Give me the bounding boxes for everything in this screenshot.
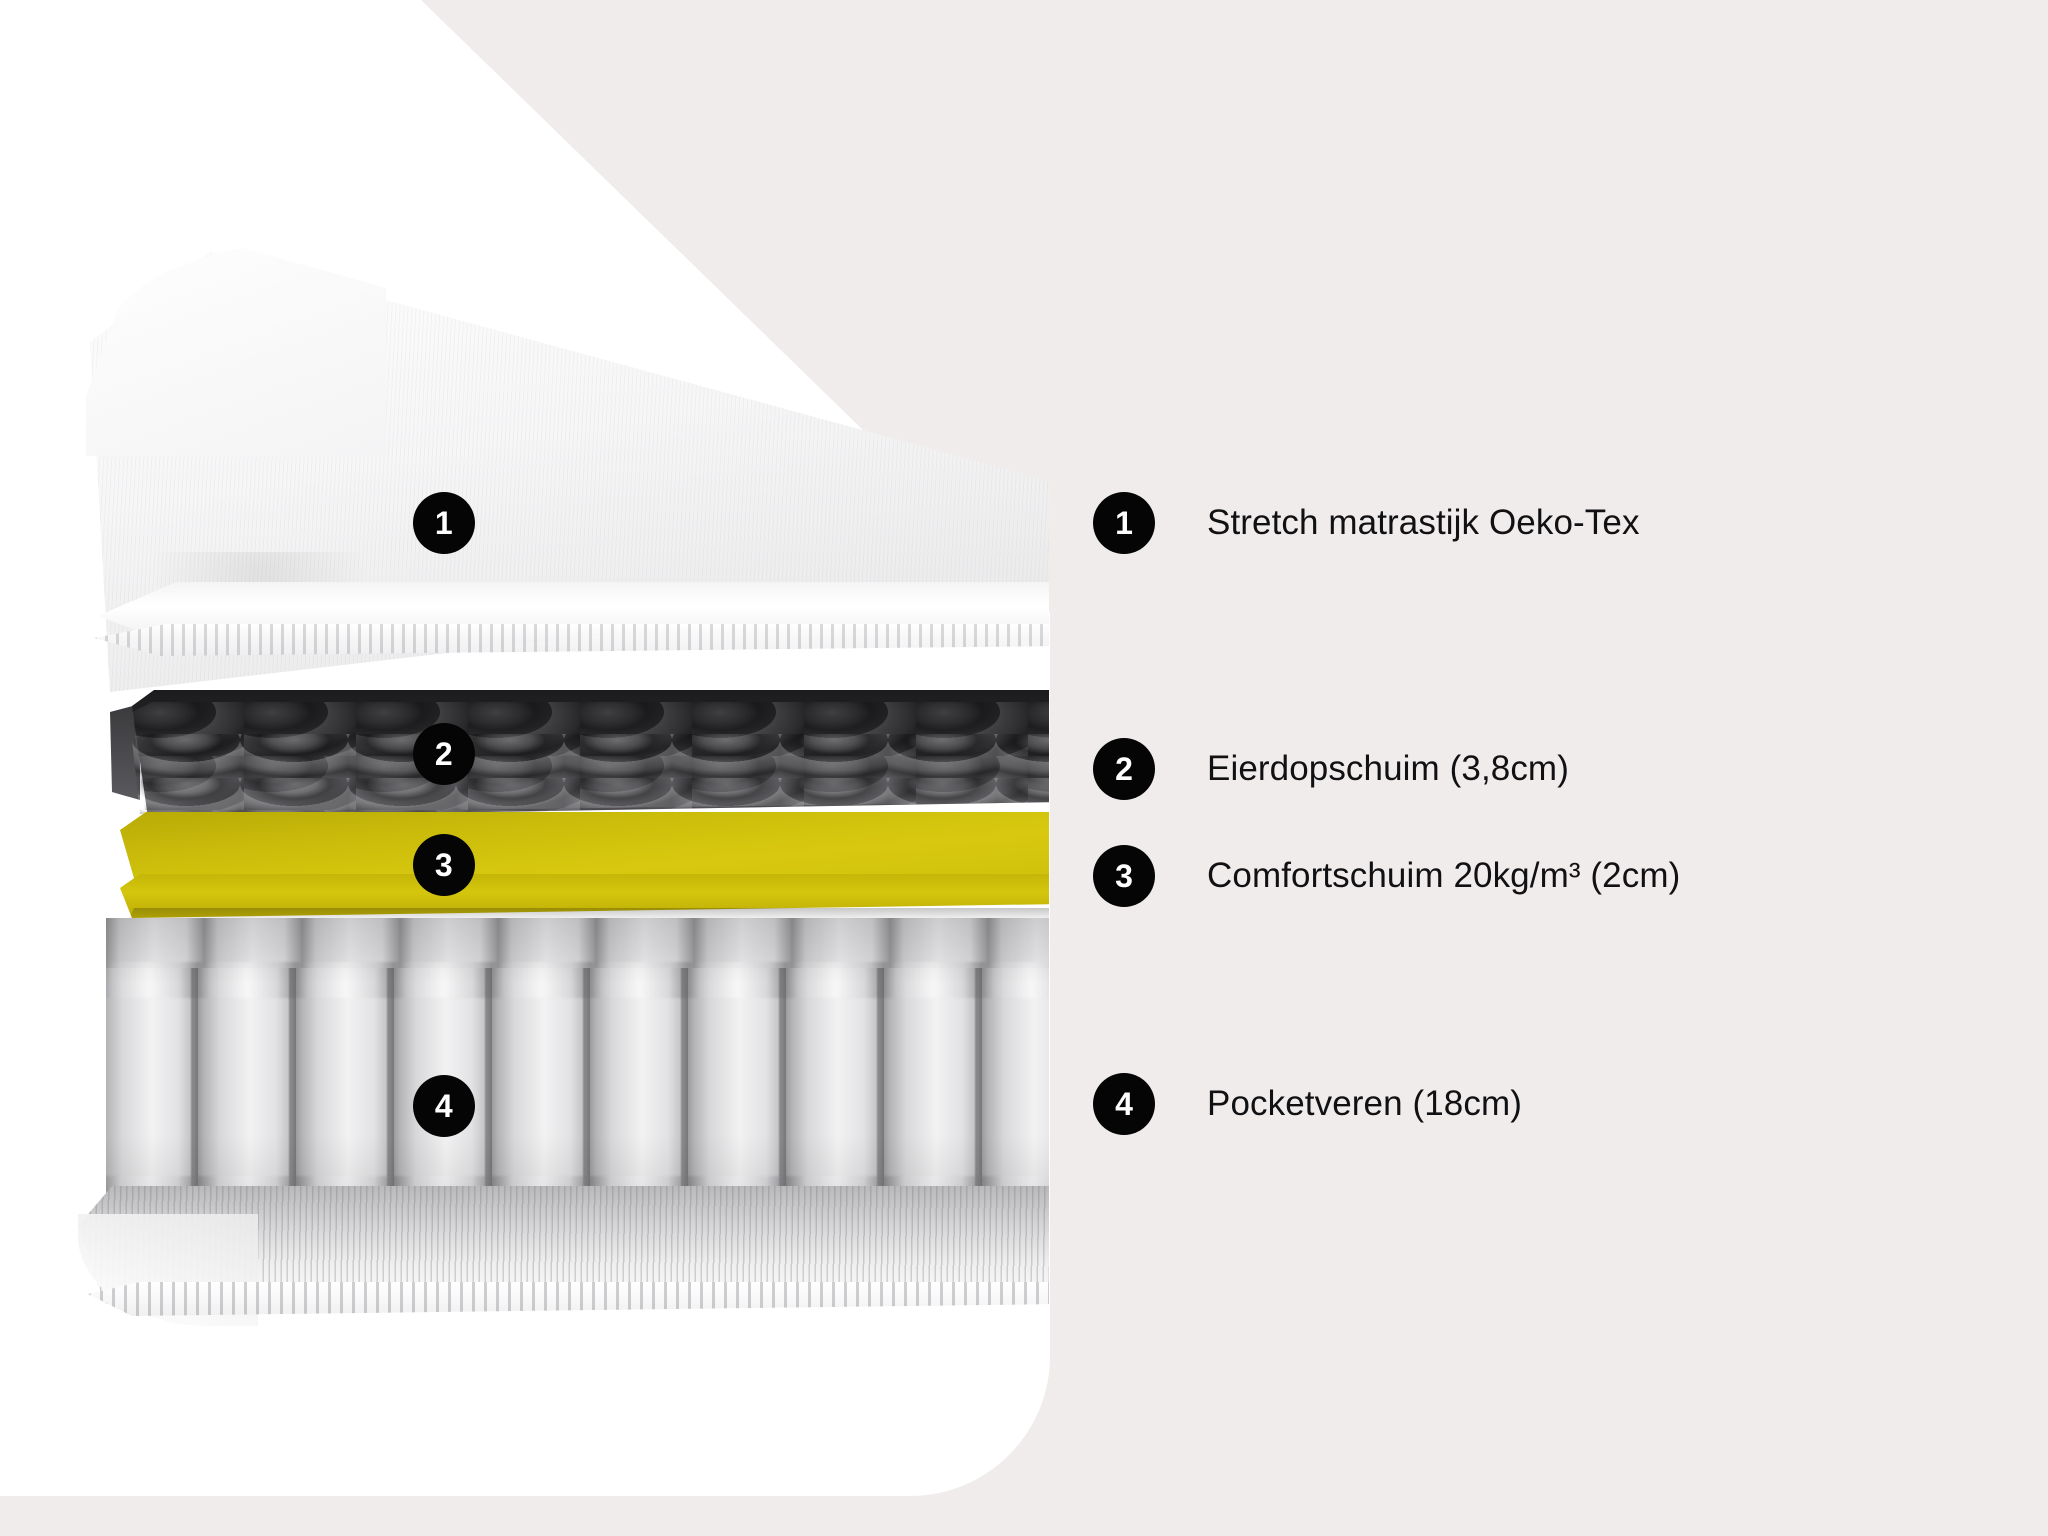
legend-badge-4: 4 [1093,1073,1155,1135]
mattress-cutaway-image: 1 2 3 4 [0,0,1049,1400]
egg-foam-wave-texture-front [132,734,1049,814]
mattress-base-panel [78,1186,1049,1326]
mattress-layer-comfort-foam [120,812,1049,920]
legend-item-comfort-foam[interactable]: 3 Comfortschuim 20kg/m³ (2cm) [1093,845,1680,907]
legend-label-2: Eierdopschuim (3,8cm) [1207,749,1569,789]
legend-label-3: Comfortschuim 20kg/m³ (2cm) [1207,856,1680,896]
mattress-layer-egg-crate-foam [132,690,1049,818]
mattress-callout-badge-3[interactable]: 3 [413,834,475,896]
mattress-callout-badge-2[interactable]: 2 [413,723,475,785]
mattress-callout-badge-4[interactable]: 4 [413,1075,475,1137]
legend-badge-2: 2 [1093,738,1155,800]
legend-item-egg-crate-foam[interactable]: 2 Eierdopschuim (3,8cm) [1093,738,1569,800]
mattress-layers-infographic: 1 2 3 4 1 Stretch matrastijk Oeko-Tex 2 … [0,0,2048,1536]
pocket-springs-shading [106,918,1049,1218]
legend-item-pocket-springs[interactable]: 4 Pocketveren (18cm) [1093,1073,1522,1135]
mattress-layer-pocket-springs [106,918,1049,1218]
legend-label-4: Pocketveren (18cm) [1207,1084,1522,1124]
legend-item-stretch-cover[interactable]: 1 Stretch matrastijk Oeko-Tex [1093,492,1640,554]
cover-rounded-corner [86,246,386,456]
cover-stitched-piping [94,624,1049,656]
legend-badge-1: 1 [1093,492,1155,554]
mattress-callout-badge-1[interactable]: 1 [413,492,475,554]
legend-badge-3: 3 [1093,845,1155,907]
legend-label-1: Stretch matrastijk Oeko-Tex [1207,503,1640,543]
mattress-layer-stretch-cover [90,252,1049,692]
base-panel-stitched-piping [88,1282,1049,1316]
legend-list: 1 Stretch matrastijk Oeko-Tex 2 Eierdops… [1093,0,1993,1536]
